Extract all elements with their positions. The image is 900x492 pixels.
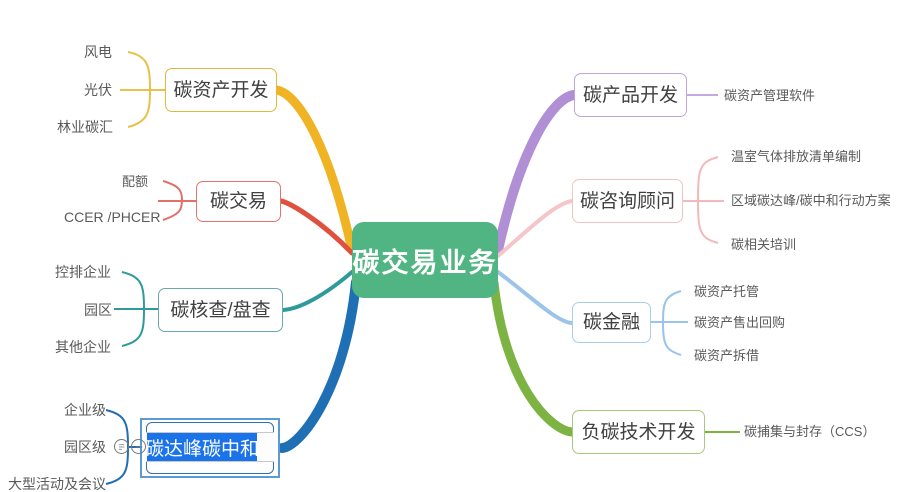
branch-curve-negative-carbon-tech	[494, 283, 572, 432]
node-carbon-product-development[interactable]: 碳产品开发	[574, 73, 687, 117]
leaf-carbon-product-development-0[interactable]: 碳资产管理软件	[724, 89, 815, 102]
node-carbon-asset-development-label: 碳资产开发	[173, 81, 268, 100]
node-carbon-finance-label: 碳金融	[583, 313, 640, 332]
leaf-carbon-peak-neutrality-1[interactable]: 园区级	[64, 440, 106, 454]
node-carbon-trading[interactable]: 碳交易	[196, 181, 281, 222]
leaf-carbon-verification-1[interactable]: 园区	[84, 303, 112, 317]
node-carbon-finance[interactable]: 碳金融	[572, 302, 651, 343]
leaf-carbon-verification-0[interactable]: 控排企业	[55, 265, 111, 279]
branch-curve-carbon-verification	[283, 272, 352, 310]
collapse-minus-icon[interactable]	[131, 439, 146, 454]
branch-curve-carbon-product-development	[498, 95, 574, 250]
node-carbon-verification-label: 碳核查/盘查	[170, 301, 270, 320]
note-icon[interactable]	[114, 439, 129, 454]
leaf-carbon-peak-neutrality-0[interactable]: 企业级	[64, 403, 106, 417]
leaf-carbon-finance-0[interactable]: 碳资产托管	[694, 285, 759, 298]
leaf-carbon-asset-development-0[interactable]: 风电	[84, 45, 112, 59]
leaf-carbon-consulting-1[interactable]: 区域碳达峰/碳中和行动方案	[731, 194, 891, 207]
node-carbon-asset-development[interactable]: 碳资产开发	[165, 68, 277, 112]
leaf-carbon-finance-2[interactable]: 碳资产拆借	[694, 349, 759, 362]
branch-curve-carbon-finance	[498, 272, 572, 323]
leaf-carbon-asset-development-1[interactable]: 光伏	[84, 83, 112, 97]
center-node[interactable]: 碳交易业务	[352, 222, 498, 298]
leaf-carbon-consulting-0[interactable]: 温室气体排放清单编制	[731, 150, 861, 163]
node-carbon-product-development-label: 碳产品开发	[583, 86, 678, 105]
leaf-carbon-trading-0[interactable]: 配额	[122, 175, 148, 188]
node-carbon-trading-label: 碳交易	[210, 192, 267, 211]
node-negative-carbon-tech[interactable]: 负碳技术开发	[572, 410, 705, 454]
leaf-negative-carbon-tech-0[interactable]: 碳捕集与封存（CCS）	[744, 425, 875, 438]
leaf-carbon-verification-2[interactable]: 其他企业	[55, 340, 111, 354]
carbon-peak-neutrality-selected-text[interactable]: 碳达峰碳中和	[147, 433, 257, 461]
branch-curve-carbon-asset-development	[277, 90, 352, 250]
node-carbon-verification[interactable]: 碳核查/盘查	[158, 288, 283, 332]
leaf-carbon-finance-1[interactable]: 碳资产售出回购	[694, 316, 785, 329]
leaf-carbon-asset-development-2[interactable]: 林业碳汇	[57, 120, 113, 134]
node-carbon-consulting[interactable]: 碳咨询顾问	[572, 179, 683, 223]
leaf-carbon-trading-1[interactable]: CCER /PHCER	[64, 210, 160, 224]
center-node-label: 碳交易业务	[353, 241, 498, 280]
leaf-carbon-consulting-2[interactable]: 碳相关培训	[731, 238, 796, 251]
mindmap-canvas[interactable]: 碳交易业务 碳资产开发 风电 光伏 林业碳汇 碳交易 配额 CCER /PHCE…	[0, 0, 900, 489]
node-carbon-consulting-label: 碳咨询顾问	[580, 192, 675, 211]
node-negative-carbon-tech-label: 负碳技术开发	[581, 423, 695, 442]
